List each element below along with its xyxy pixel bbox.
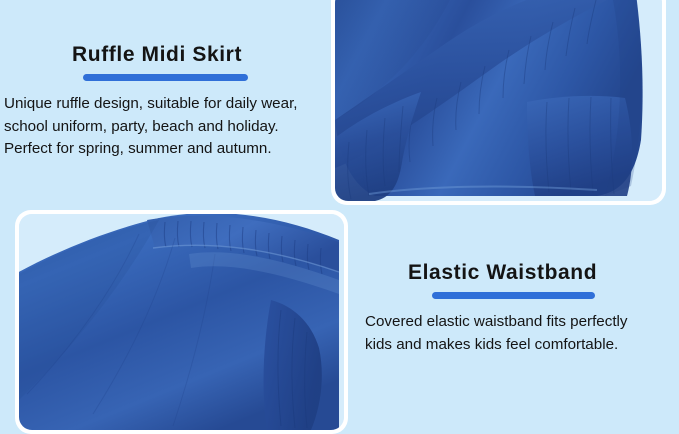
photo-frame-elastic-waistband [15, 210, 348, 434]
body-line: Perfect for spring, summer and autumn. [4, 138, 340, 161]
product-feature-banner: Ruffle Midi Skirt Unique ruffle design, … [0, 0, 679, 420]
body-line: school uniform, party, beach and holiday… [4, 116, 340, 139]
body-line: Unique ruffle design, suitable for daily… [4, 93, 340, 116]
heading-accent-bar [83, 74, 248, 81]
body-line: kids and makes kids feel comfortable. [365, 334, 679, 357]
body-line: Covered elastic waistband fits perfectly [365, 311, 679, 334]
product-photo-elastic-waistband [19, 214, 344, 430]
product-photo-ruffle-skirt [335, 0, 662, 201]
photo-frame-ruffle-skirt [331, 0, 666, 205]
ruffle-skirt-illustration [335, 0, 662, 201]
feature-heading-elastic-waistband: Elastic Waistband [408, 262, 679, 283]
feature-text-ruffle-midi-skirt: Ruffle Midi Skirt Unique ruffle design, … [0, 44, 340, 161]
feature-heading-ruffle-midi-skirt: Ruffle Midi Skirt [72, 44, 340, 65]
heading-accent-bar [432, 292, 595, 299]
waistband-illustration [19, 214, 344, 430]
feature-text-elastic-waistband: Elastic Waistband Covered elastic waistb… [355, 262, 679, 356]
feature-body-elastic-waistband: Covered elastic waistband fits perfectly… [365, 311, 679, 356]
feature-body-ruffle-midi-skirt: Unique ruffle design, suitable for daily… [4, 93, 340, 161]
